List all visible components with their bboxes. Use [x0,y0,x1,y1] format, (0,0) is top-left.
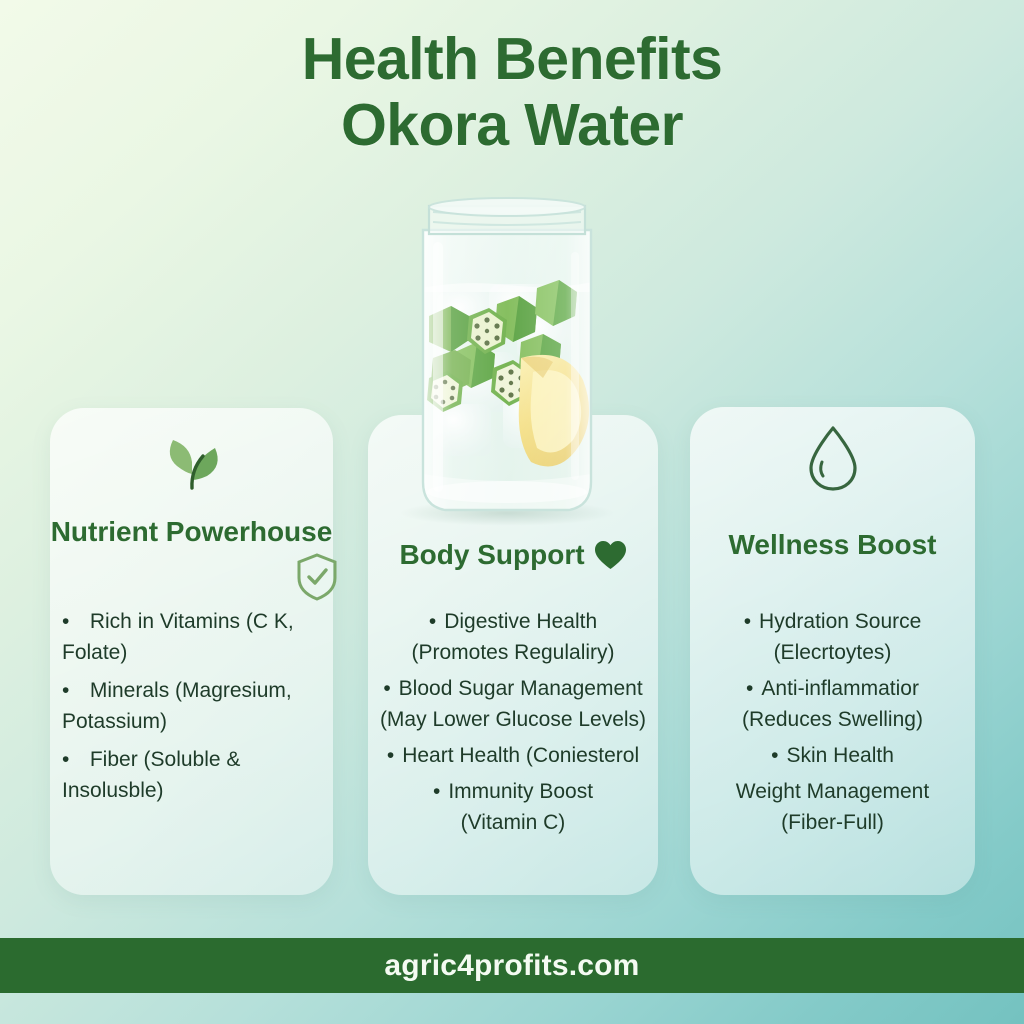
card-3-bullet-list: Hydration Source (Elecrtoytes) Anti-infl… [690,606,975,843]
list-item: Skin Health [690,740,975,771]
bullet-line-2: Folate) [84,637,324,668]
bullet-line-2: (Fiber-Full) [690,807,975,838]
footer-band: agric4profits.com [0,938,1024,993]
bullet-line-2: (Elecrtoytes) [690,637,975,668]
bullet-line-1: Weight Management [736,780,929,803]
bullet-line-1: Rich in Vitamins (C K, [90,610,294,633]
list-item: Anti-inflammatior (Reduces Swelling) [690,673,975,735]
heart-icon [594,540,627,570]
list-item: Rich in Vitamins (C K, Folate) [62,606,324,668]
bullet-line-1: Minerals (Magresium, [90,679,292,702]
website-url[interactable]: agric4profits.com [384,949,639,983]
title-line-1: Health Benefits [0,26,1024,92]
list-item: Heart Health (Coniesterol [368,740,658,771]
bullet-line-1: Fiber (Soluble & [90,748,241,771]
bullet-line-2: Potassium) [84,706,324,737]
bullet-line-2: (May Lower Glucose Levels) [368,704,658,735]
bullet-line-2: (Reduces Swelling) [690,704,975,735]
bullet-line-1: Hydration Source [759,610,921,633]
card-3-heading: Wellness Boost [690,527,975,562]
card-1-heading: Nutrient Powerhouse [50,514,333,549]
card-2-heading: Body Support [368,537,658,572]
card-2-heading-text: Body Support [399,537,584,572]
bullet-line-1: Heart Health (Coniesterol [402,744,639,767]
seedling-icon [50,424,333,490]
bullet-line-2: Insolusble) [84,775,324,806]
bullet-line-1: Digestive Health [444,610,597,633]
card-2-bullet-list: Digestive Health (Promotes Regulaliry) B… [368,606,658,843]
list-item: Digestive Health (Promotes Regulaliry) [368,606,658,668]
bullet-line-1: Anti-inflammatior [761,677,919,700]
list-item: Hydration Source (Elecrtoytes) [690,606,975,668]
title-line-2: Okora Water [0,92,1024,158]
list-item: Weight Management (Fiber-Full) [690,776,975,838]
page-title: Health Benefits Okora Water [0,26,1024,158]
jar-illustration [393,192,621,522]
list-item: Immunity Boost (Vitamin C) [368,776,658,838]
bullet-line-2: (Vitamin C) [368,807,658,838]
okra-water-jar-image [393,192,621,522]
list-item: Minerals (Magresium, Potassium) [62,675,324,737]
water-droplet-icon [690,424,975,492]
bullet-line-1: Blood Sugar Management [399,677,643,700]
shield-check-icon [295,552,339,607]
bullet-line-1: Skin Health [786,744,893,767]
bullet-line-1: Immunity Boost [448,780,593,803]
list-item: Blood Sugar Management (May Lower Glucos… [368,673,658,735]
card-1-bullet-list: Rich in Vitamins (C K, Folate) Minerals … [62,606,324,813]
list-item: Fiber (Soluble & Insolusble) [62,744,324,806]
bullet-line-2: (Promotes Regulaliry) [368,637,658,668]
